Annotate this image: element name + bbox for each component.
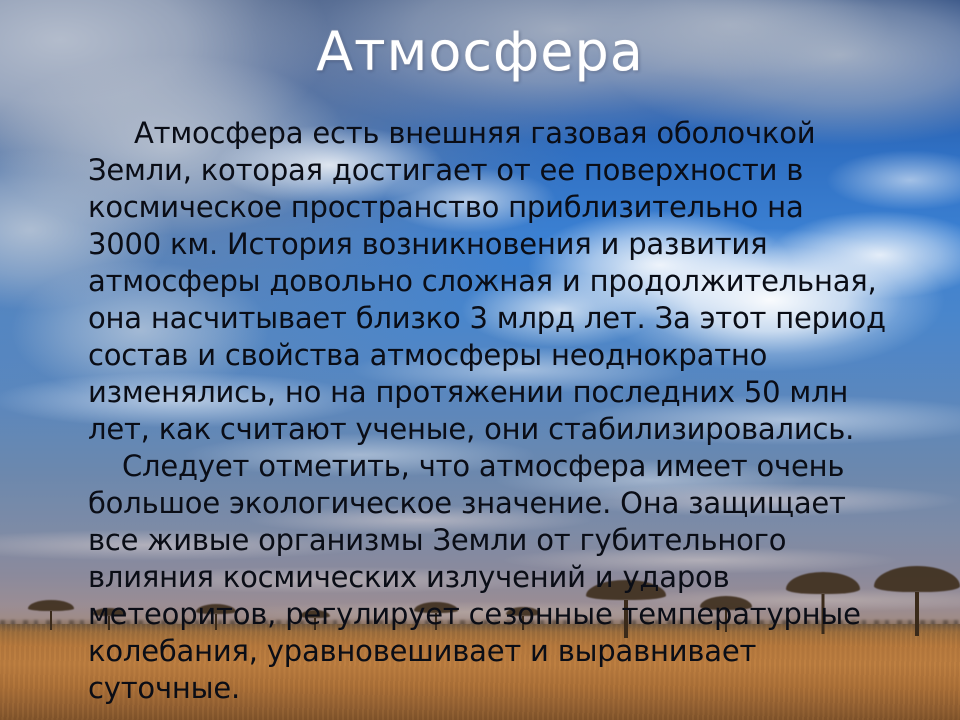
- text-line: метеоритов, регулирует сезонные температ…: [88, 596, 888, 633]
- text-line: большое экологическое значение. Она защи…: [88, 485, 888, 522]
- text-line: она насчитывает близко 3 млрд лет. За эт…: [88, 300, 888, 337]
- slide-title: Атмосфера: [0, 22, 960, 82]
- text-line: космическое пространство приблизительно …: [88, 189, 888, 226]
- tree-canopy: [28, 600, 74, 611]
- slide-body-text: Атмосфера есть внешняя газовая оболочкой…: [88, 115, 888, 707]
- presentation-slide: Атмосфера Атмосфера есть внешняя газовая…: [0, 0, 960, 720]
- text-line: Атмосфера есть внешняя газовая оболочкой: [88, 115, 888, 152]
- text-line: лет, как считают ученые, они стабилизиро…: [88, 411, 888, 448]
- paragraph-2: Следует отметить, что атмосфера имеет оч…: [88, 448, 888, 707]
- text-line: 3000 км. История возникновения и развити…: [88, 226, 888, 263]
- text-line: Земли, которая достигает от ее поверхнос…: [88, 152, 888, 189]
- text-line: суточные.: [88, 670, 888, 707]
- paragraph-1: Атмосфера есть внешняя газовая оболочкой…: [88, 115, 888, 448]
- text-line: изменялись, но на протяжении последних 5…: [88, 374, 888, 411]
- text-line: атмосферы довольно сложная и продолжител…: [88, 263, 888, 300]
- text-line: все живые организмы Земли от губительног…: [88, 522, 888, 559]
- text-line: влияния космических излучений и ударов: [88, 559, 888, 596]
- text-line: колебания, уравновешивает и выравнивает: [88, 633, 888, 670]
- text-line: состав и свойства атмосферы неоднократно: [88, 337, 888, 374]
- text-line: Следует отметить, что атмосфера имеет оч…: [88, 448, 888, 485]
